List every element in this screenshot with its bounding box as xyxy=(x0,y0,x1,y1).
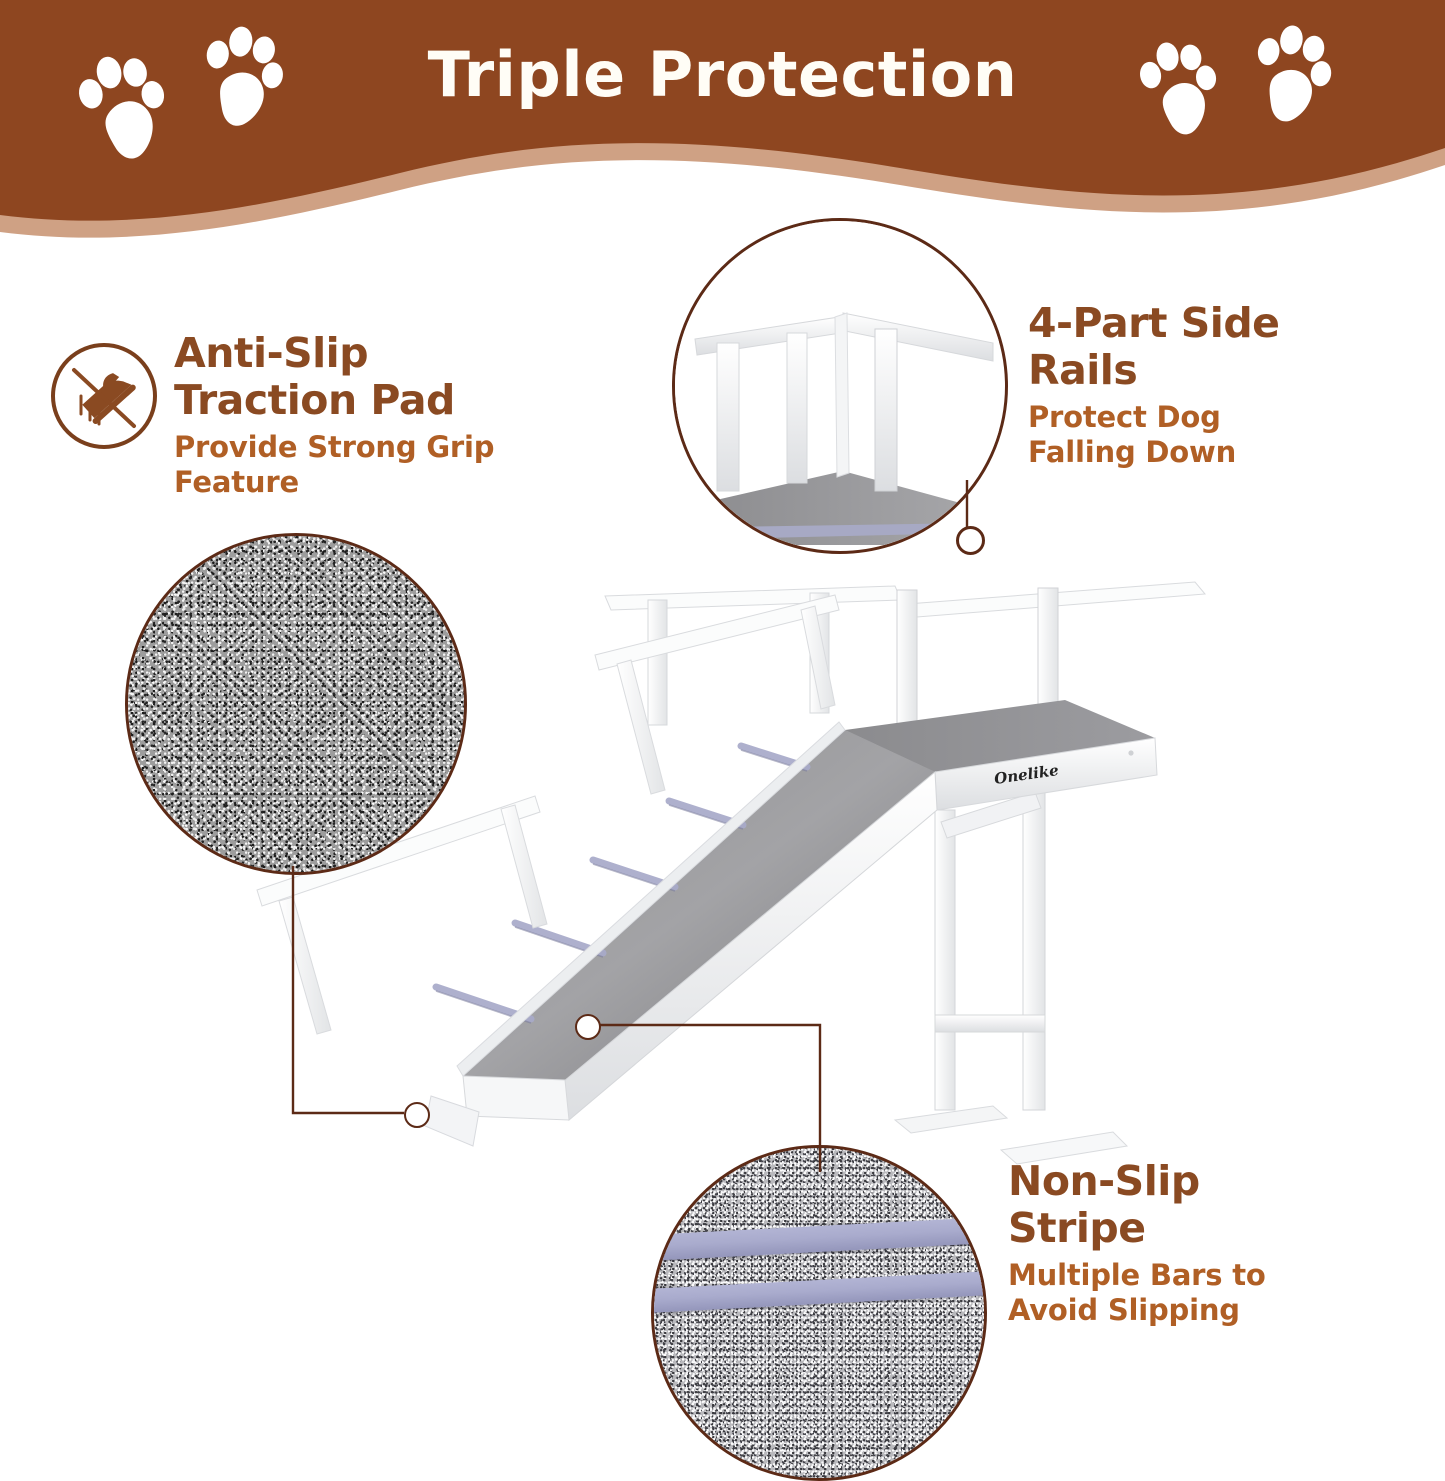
feature-callout-anti-slip: Anti-Slip Traction Pad Provide Strong Gr… xyxy=(174,330,574,500)
feature-heading-line2: Rails xyxy=(1028,347,1378,394)
feature-callout-non-slip-stripe: Non-Slip Stripe Multiple Bars to Avoid S… xyxy=(1008,1158,1368,1328)
feature-sub-line2: Falling Down xyxy=(1028,435,1378,470)
feature-sub-line1: Protect Dog xyxy=(1028,400,1378,435)
detail-circle-traction-pad xyxy=(125,533,467,875)
feature-heading-line1: 4-Part Side xyxy=(1028,300,1378,347)
carpet-texture-light xyxy=(654,1148,984,1478)
anti-slip-shoe-icon xyxy=(48,340,160,452)
feature-heading-line2: Stripe xyxy=(1008,1205,1368,1252)
feature-callout-side-rails: 4-Part Side Rails Protect Dog Falling Do… xyxy=(1028,300,1378,470)
feature-sub-line1: Multiple Bars to xyxy=(1008,1258,1368,1293)
detail-circle-side-rails xyxy=(672,218,1008,554)
header-banner: Triple Protection xyxy=(0,0,1445,250)
page-title: Triple Protection xyxy=(0,38,1445,112)
carpet-texture xyxy=(128,536,464,872)
feature-heading-line1: Anti-Slip xyxy=(174,330,574,377)
feature-sub-line1: Provide Strong Grip xyxy=(174,430,574,465)
infographic-canvas: Triple Protection xyxy=(0,0,1445,1416)
platform-legs xyxy=(895,780,1127,1164)
detail-circle-non-slip-stripe xyxy=(651,1145,987,1481)
feature-heading-line1: Non-Slip xyxy=(1008,1158,1368,1205)
feature-sub-line2: Feature xyxy=(174,465,574,500)
callout-dot-traction-pad xyxy=(404,1102,430,1128)
feature-heading-line2: Traction Pad xyxy=(174,377,574,424)
callout-ring-side-rails xyxy=(956,526,985,555)
callout-dot-non-slip-stripe xyxy=(575,1014,601,1040)
feature-sub-line2: Avoid Slipping xyxy=(1008,1293,1368,1328)
